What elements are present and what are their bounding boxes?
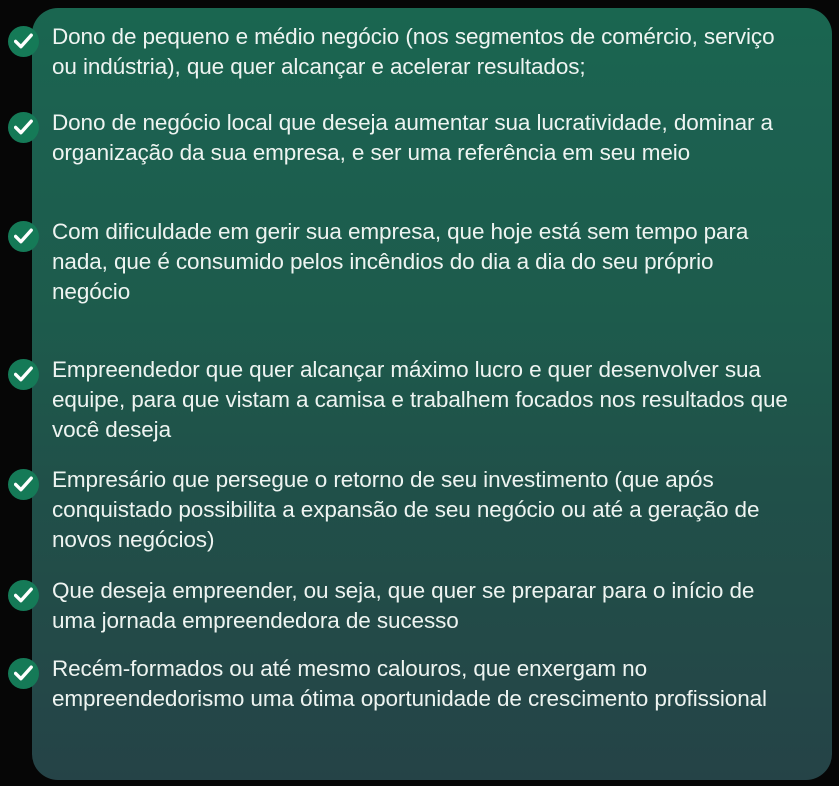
list-item-text: Empresário que persegue o retorno de seu… bbox=[52, 465, 792, 555]
check-circle-icon bbox=[8, 658, 39, 689]
check-circle-icon bbox=[8, 580, 39, 611]
list-item-text: Empreendedor que quer alcançar máximo lu… bbox=[52, 355, 792, 445]
check-circle-icon bbox=[8, 26, 39, 57]
list-item-text: Recém-formados ou até mesmo calouros, qu… bbox=[52, 654, 792, 714]
list-item-text: Com dificuldade em gerir sua empresa, qu… bbox=[52, 217, 792, 307]
slide-canvas: Dono de pequeno e médio negócio (nos seg… bbox=[0, 0, 839, 786]
check-circle-icon bbox=[8, 359, 39, 390]
checklist: Dono de pequeno e médio negócio (nos seg… bbox=[0, 0, 839, 786]
check-circle-icon bbox=[8, 112, 39, 143]
list-item-text: Que deseja empreender, ou seja, que quer… bbox=[52, 576, 792, 636]
list-item-text: Dono de pequeno e médio negócio (nos seg… bbox=[52, 22, 792, 82]
check-circle-icon bbox=[8, 221, 39, 252]
check-circle-icon bbox=[8, 469, 39, 500]
list-item-text: Dono de negócio local que deseja aumenta… bbox=[52, 108, 792, 168]
